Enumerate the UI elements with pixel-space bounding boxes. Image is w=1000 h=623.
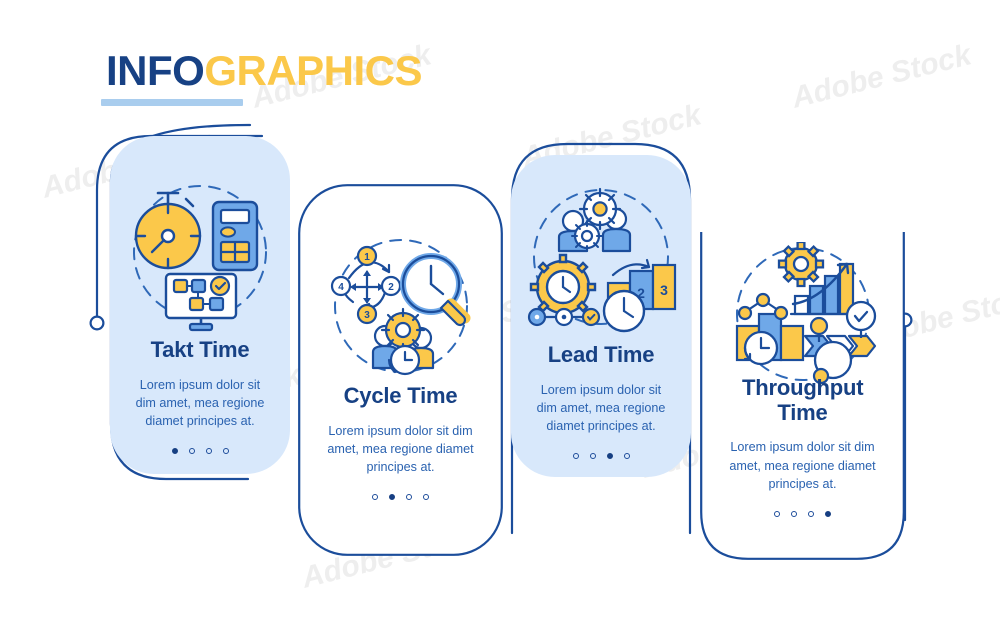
card-body-cycle: Cycle Time Lorem ipsum dolor sit dim ame… [298, 384, 503, 500]
pagination-dot[interactable] [573, 453, 579, 459]
card-body-takt: Takt Time Lorem ipsum dolor sit dim amet… [110, 338, 290, 454]
pagination-dot[interactable] [172, 448, 178, 454]
stopwatch-calculator-flowchart-icon [134, 186, 266, 330]
card-takt-time[interactable]: Takt Time Lorem ipsum dolor sit dim amet… [110, 136, 290, 474]
pagination-dot[interactable] [808, 511, 814, 517]
card-icon-takt [110, 180, 290, 332]
pagination-dot[interactable] [423, 494, 429, 500]
card-title-takt: Takt Time [110, 338, 290, 363]
card-body-lead: Lead Time Lorem ipsum dolor sit dim amet… [511, 343, 691, 459]
pagination-dots-cycle[interactable] [298, 494, 503, 500]
gear-team-podium-clock-icon: 1 2 3 [529, 189, 675, 331]
card-icon-throughput [700, 242, 905, 392]
card-cycle-time[interactable]: 1 2 3 4 [298, 184, 503, 556]
svg-text:1: 1 [364, 252, 370, 263]
cycle-steps-magnifier-clock-icon: 1 2 3 4 [332, 240, 467, 374]
pagination-dots-throughput[interactable] [700, 511, 905, 517]
svg-text:4: 4 [338, 282, 344, 293]
card-throughput-time[interactable]: Throughput Time Lorem ipsum dolor sit di… [700, 232, 905, 560]
card-description-lead: Lorem ipsum dolor sit dim amet, mea regi… [511, 381, 691, 436]
svg-text:2: 2 [388, 282, 394, 293]
card-description-cycle: Lorem ipsum dolor sit dim amet, mea regi… [298, 422, 503, 477]
card-title-lead: Lead Time [511, 343, 691, 368]
card-body-throughput: Throughput Time Lorem ipsum dolor sit di… [700, 376, 905, 517]
svg-text:3: 3 [364, 310, 370, 321]
pagination-dot[interactable] [389, 494, 395, 500]
card-icon-lead: 1 2 3 [511, 183, 691, 335]
pagination-dot[interactable] [590, 453, 596, 459]
card-title-throughput: Throughput Time [700, 376, 905, 425]
gear-growth-chart-flow-check-icon [737, 242, 875, 383]
card-title-cycle: Cycle Time [298, 384, 503, 409]
card-description-takt: Lorem ipsum dolor sit dim amet, mea regi… [110, 376, 290, 431]
pagination-dots-lead[interactable] [511, 453, 691, 459]
pagination-dot[interactable] [372, 494, 378, 500]
pagination-dot[interactable] [607, 453, 613, 459]
pagination-dot[interactable] [791, 511, 797, 517]
pagination-dot[interactable] [206, 448, 212, 454]
card-lead-time[interactable]: 1 2 3 Lead Time Lorem ipsum dolor sit di… [511, 155, 691, 477]
pagination-dot[interactable] [189, 448, 195, 454]
pagination-dot[interactable] [774, 511, 780, 517]
pagination-dot[interactable] [223, 448, 229, 454]
infographic-canvas: Adobe Stock Adobe Stock Adobe Stock Adob… [0, 0, 1000, 623]
pagination-dot[interactable] [825, 511, 831, 517]
card-description-throughput: Lorem ipsum dolor sit dim amet, mea regi… [700, 438, 905, 493]
pagination-dot[interactable] [624, 453, 630, 459]
pagination-dot[interactable] [406, 494, 412, 500]
svg-text:3: 3 [660, 282, 668, 298]
card-icon-cycle: 1 2 3 4 [298, 234, 503, 384]
pagination-dots-takt[interactable] [110, 448, 290, 454]
